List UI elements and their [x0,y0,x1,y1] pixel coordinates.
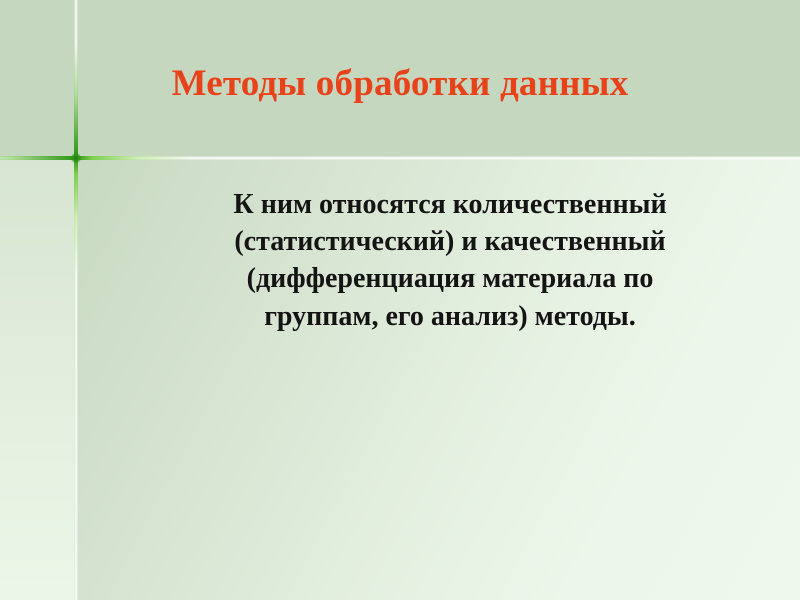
body-line-1: К ним относятся количественный [160,186,740,223]
sparkle-core [71,153,81,163]
slide-title: Методы обработки данных [0,63,800,106]
sparkle-horizontal-ray [0,156,191,160]
body-line-3: (дифференциация материала по [160,260,740,297]
body-line-2: (статистический) и качественный [160,223,740,260]
body-line-4: группам, его анализ) методы. [160,298,740,335]
slide-body-text: К ним относятся количественный (статисти… [160,186,740,335]
slide-canvas: Методы обработки данных К ним относятся … [0,0,800,600]
left-accent-strip [0,158,74,600]
